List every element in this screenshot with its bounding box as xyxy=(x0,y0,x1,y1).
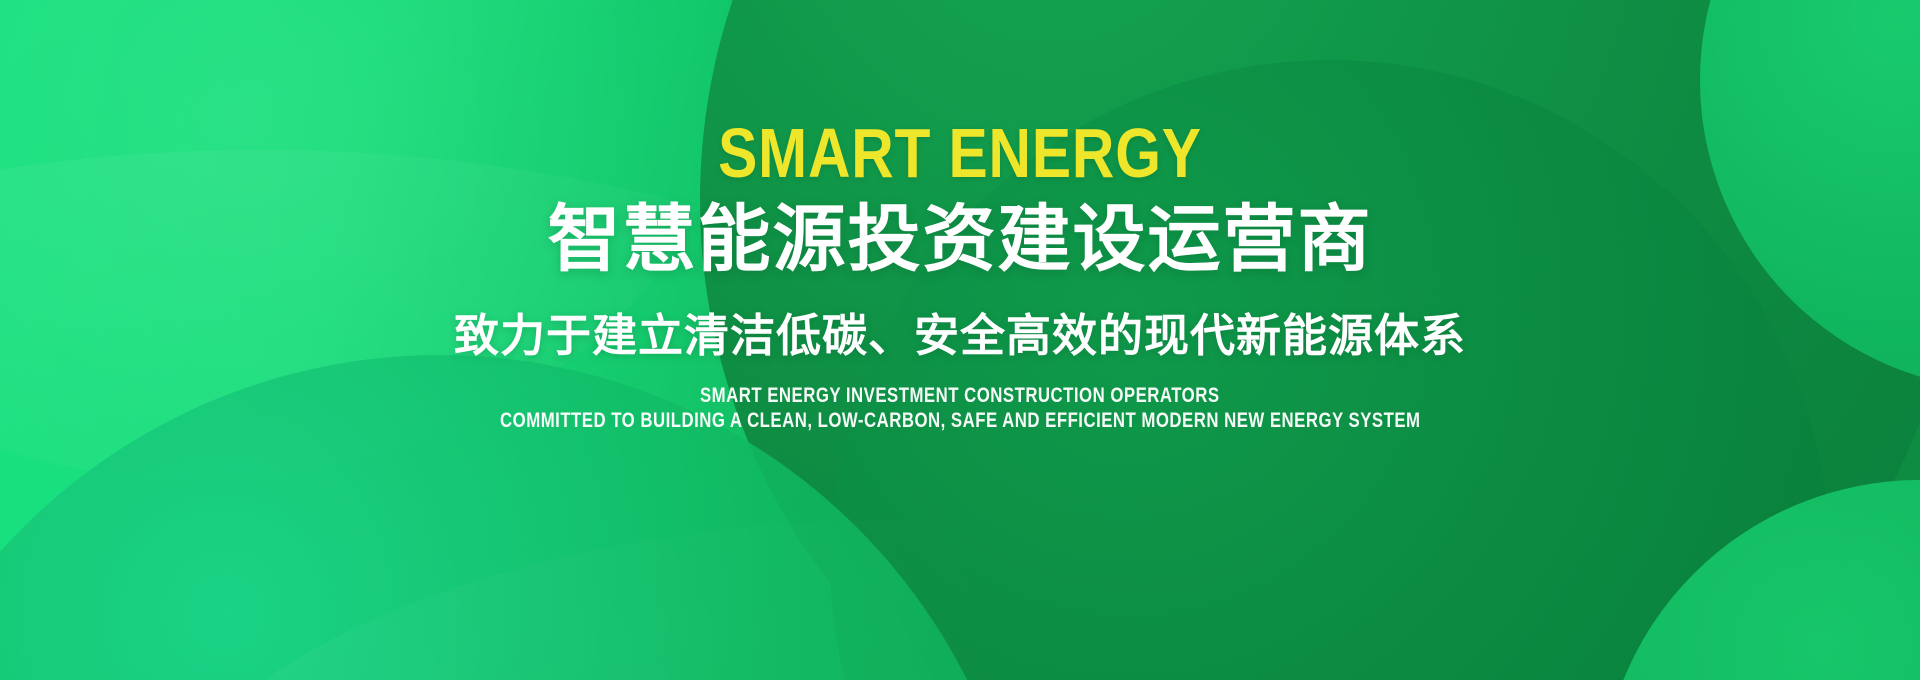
hero-banner: SMART ENERGY 智慧能源投资建设运营商 致力于建立清洁低碳、安全高效的… xyxy=(0,0,1920,680)
banner-headline-english: SMART ENERGY xyxy=(718,118,1202,188)
banner-tagline-english-line-2: COMMITTED TO BUILDING A CLEAN, LOW-CARBO… xyxy=(500,409,1420,433)
banner-tagline-english-line-1: SMART ENERGY INVESTMENT CONSTRUCTION OPE… xyxy=(700,384,1220,408)
banner-subheadline-chinese: 致力于建立清洁低碳、安全高效的现代新能源体系 xyxy=(454,310,1466,362)
banner-content: SMART ENERGY 智慧能源投资建设运营商 致力于建立清洁低碳、安全高效的… xyxy=(0,0,1920,680)
banner-headline-chinese: 智慧能源投资建设运营商 xyxy=(548,200,1373,280)
